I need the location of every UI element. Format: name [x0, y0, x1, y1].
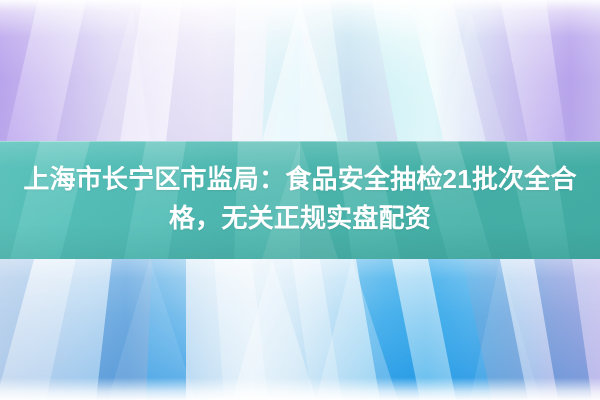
top-panel-highlight	[0, 0, 600, 142]
top-gradient-panel	[0, 0, 600, 142]
banner-headline: 上海市长宁区市监局：食品安全抽检21批次全合格，无关正规实盘配资	[0, 160, 600, 238]
promo-banner: 上海市长宁区市监局：食品安全抽检21批次全合格，无关正规实盘配资	[0, 0, 600, 400]
bottom-panel-fade	[0, 259, 600, 400]
bottom-gradient-panel	[0, 259, 600, 400]
teal-band-top-seam	[0, 141, 600, 142]
